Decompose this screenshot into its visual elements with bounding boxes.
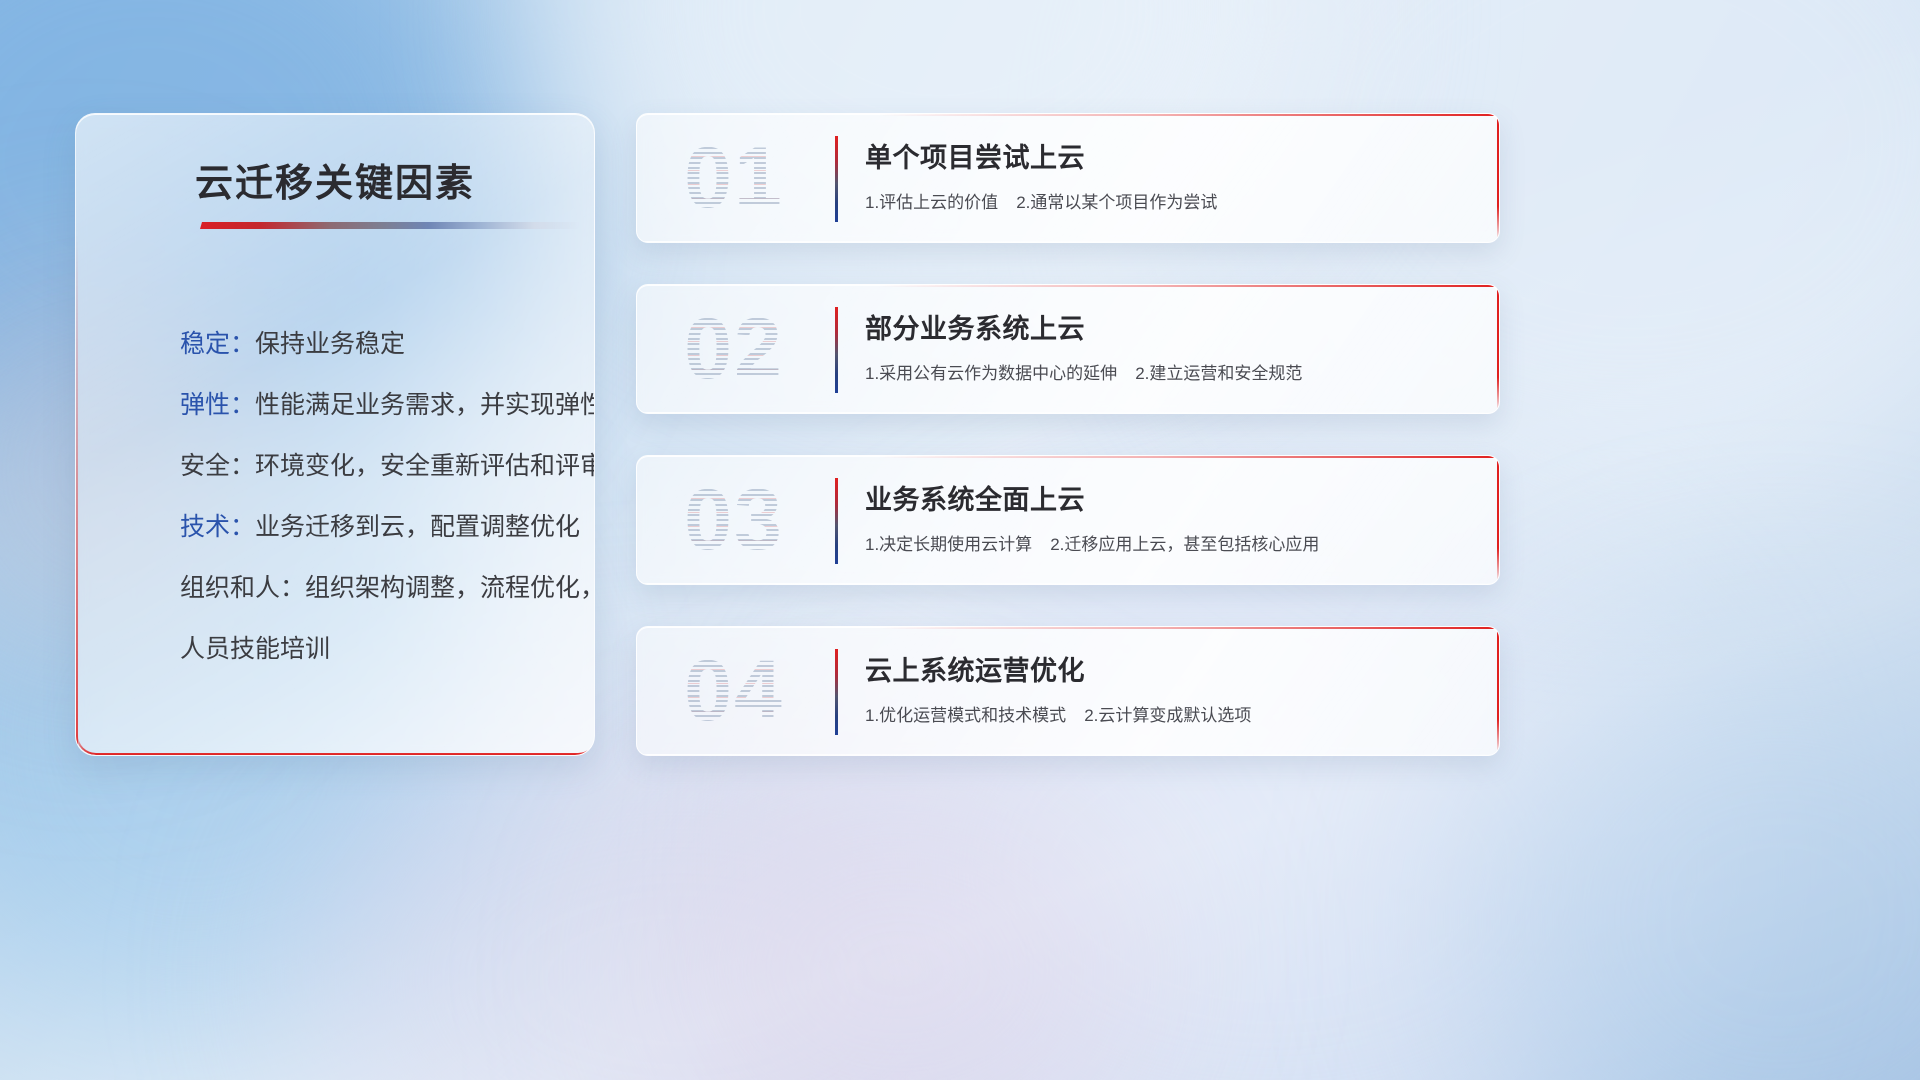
stage-card[interactable]: 0101单个项目尝试上云1.评估上云的价值2.通常以某个项目作为尝试 — [636, 113, 1500, 243]
key-factor-item: 技术：业务迁移到云，配置调整优化 — [180, 497, 564, 558]
card-right-accent — [1497, 627, 1499, 755]
card-right-accent — [1497, 285, 1499, 413]
key-factor-text: 保持业务稳定 — [255, 330, 405, 358]
panel-title: 云迁移关键因素 — [76, 152, 594, 207]
key-factor-text: 人员技能培训 — [180, 635, 330, 663]
stage-subtitle-part-2: 2.建立运营和安全规范 — [1135, 364, 1302, 383]
card-bottom-highlight — [637, 583, 1499, 584]
stage-subtitle-part-1: 1.决定长期使用云计算 — [865, 535, 1032, 554]
key-factor-label: 稳定： — [180, 330, 255, 358]
key-factor-label: 安全： — [180, 452, 255, 480]
stage-subtitle-part-1: 1.优化运营模式和技术模式 — [865, 706, 1066, 725]
stage-number: 03 — [659, 464, 809, 576]
key-factor-text: 环境变化，安全重新评估和评审 — [255, 452, 595, 480]
key-factor-text: 业务迁移到云，配置调整优化 — [255, 513, 580, 541]
stage-subtitle-part-1: 1.评估上云的价值 — [865, 193, 998, 212]
card-bottom-highlight — [637, 412, 1499, 413]
key-factor-item: 人员技能培训 — [180, 619, 564, 680]
panel-bottom-accent — [76, 733, 595, 755]
card-right-accent — [1497, 456, 1499, 584]
stage-subtitle-part-1: 1.采用公有云作为数据中心的延伸 — [865, 364, 1117, 383]
stage-number: 04 — [659, 635, 809, 747]
card-top-accent — [878, 456, 1499, 458]
stage-subtitle: 1.采用公有云作为数据中心的延伸2.建立运营和安全规范 — [865, 359, 1302, 384]
key-factor-text: 性能满足业务需求，并实现弹性 — [255, 391, 595, 419]
key-factor-text: 组织架构调整，流程优化， — [305, 574, 595, 602]
panel-left-accent — [76, 234, 78, 755]
stage-card[interactable]: 0202部分业务系统上云1.采用公有云作为数据中心的延伸2.建立运营和安全规范 — [636, 284, 1500, 414]
key-factor-item: 稳定：保持业务稳定 — [180, 314, 564, 375]
card-bottom-highlight — [637, 754, 1499, 755]
stage-title: 云上系统运营优化 — [865, 649, 1085, 688]
stage-subtitle-part-2: 2.迁移应用上云，甚至包括核心应用 — [1050, 535, 1319, 554]
stage-card[interactable]: 0303业务系统全面上云1.决定长期使用云计算2.迁移应用上云，甚至包括核心应用 — [636, 455, 1500, 585]
card-divider — [835, 649, 838, 735]
stage-title: 部分业务系统上云 — [865, 307, 1085, 346]
card-right-accent — [1497, 114, 1499, 242]
card-top-accent — [878, 627, 1499, 629]
key-factor-item: 组织和人：组织架构调整，流程优化， — [180, 558, 564, 619]
stage-title: 单个项目尝试上云 — [865, 136, 1085, 175]
key-factor-label: 组织和人： — [180, 574, 305, 602]
key-factor-item: 安全：环境变化，安全重新评估和评审 — [180, 436, 564, 497]
stage-number: 02 — [659, 293, 809, 405]
card-top-accent — [878, 114, 1499, 116]
card-top-accent — [878, 285, 1499, 287]
stage-number: 01 — [659, 122, 809, 234]
stage-subtitle-part-2: 2.通常以某个项目作为尝试 — [1016, 193, 1217, 212]
stage-subtitle: 1.决定长期使用云计算2.迁移应用上云，甚至包括核心应用 — [865, 530, 1319, 555]
panel-title-underline — [200, 222, 580, 229]
stage-subtitle: 1.评估上云的价值2.通常以某个项目作为尝试 — [865, 188, 1217, 213]
key-factor-label: 弹性： — [180, 391, 255, 419]
card-divider — [835, 307, 838, 393]
stage-subtitle-part-2: 2.云计算变成默认选项 — [1084, 706, 1251, 725]
stage-card[interactable]: 0404云上系统运营优化1.优化运营模式和技术模式2.云计算变成默认选项 — [636, 626, 1500, 756]
card-divider — [835, 136, 838, 222]
stage-title: 业务系统全面上云 — [865, 478, 1085, 517]
stage-subtitle: 1.优化运营模式和技术模式2.云计算变成默认选项 — [865, 701, 1251, 726]
key-factor-item: 弹性：性能满足业务需求，并实现弹性 — [180, 375, 564, 436]
key-factor-label: 技术： — [180, 513, 255, 541]
key-factors-list: 稳定：保持业务稳定弹性：性能满足业务需求，并实现弹性安全：环境变化，安全重新评估… — [180, 314, 564, 680]
key-factors-panel: 云迁移关键因素 稳定：保持业务稳定弹性：性能满足业务需求，并实现弹性安全：环境变… — [75, 113, 595, 756]
card-bottom-highlight — [637, 241, 1499, 242]
card-divider — [835, 478, 838, 564]
